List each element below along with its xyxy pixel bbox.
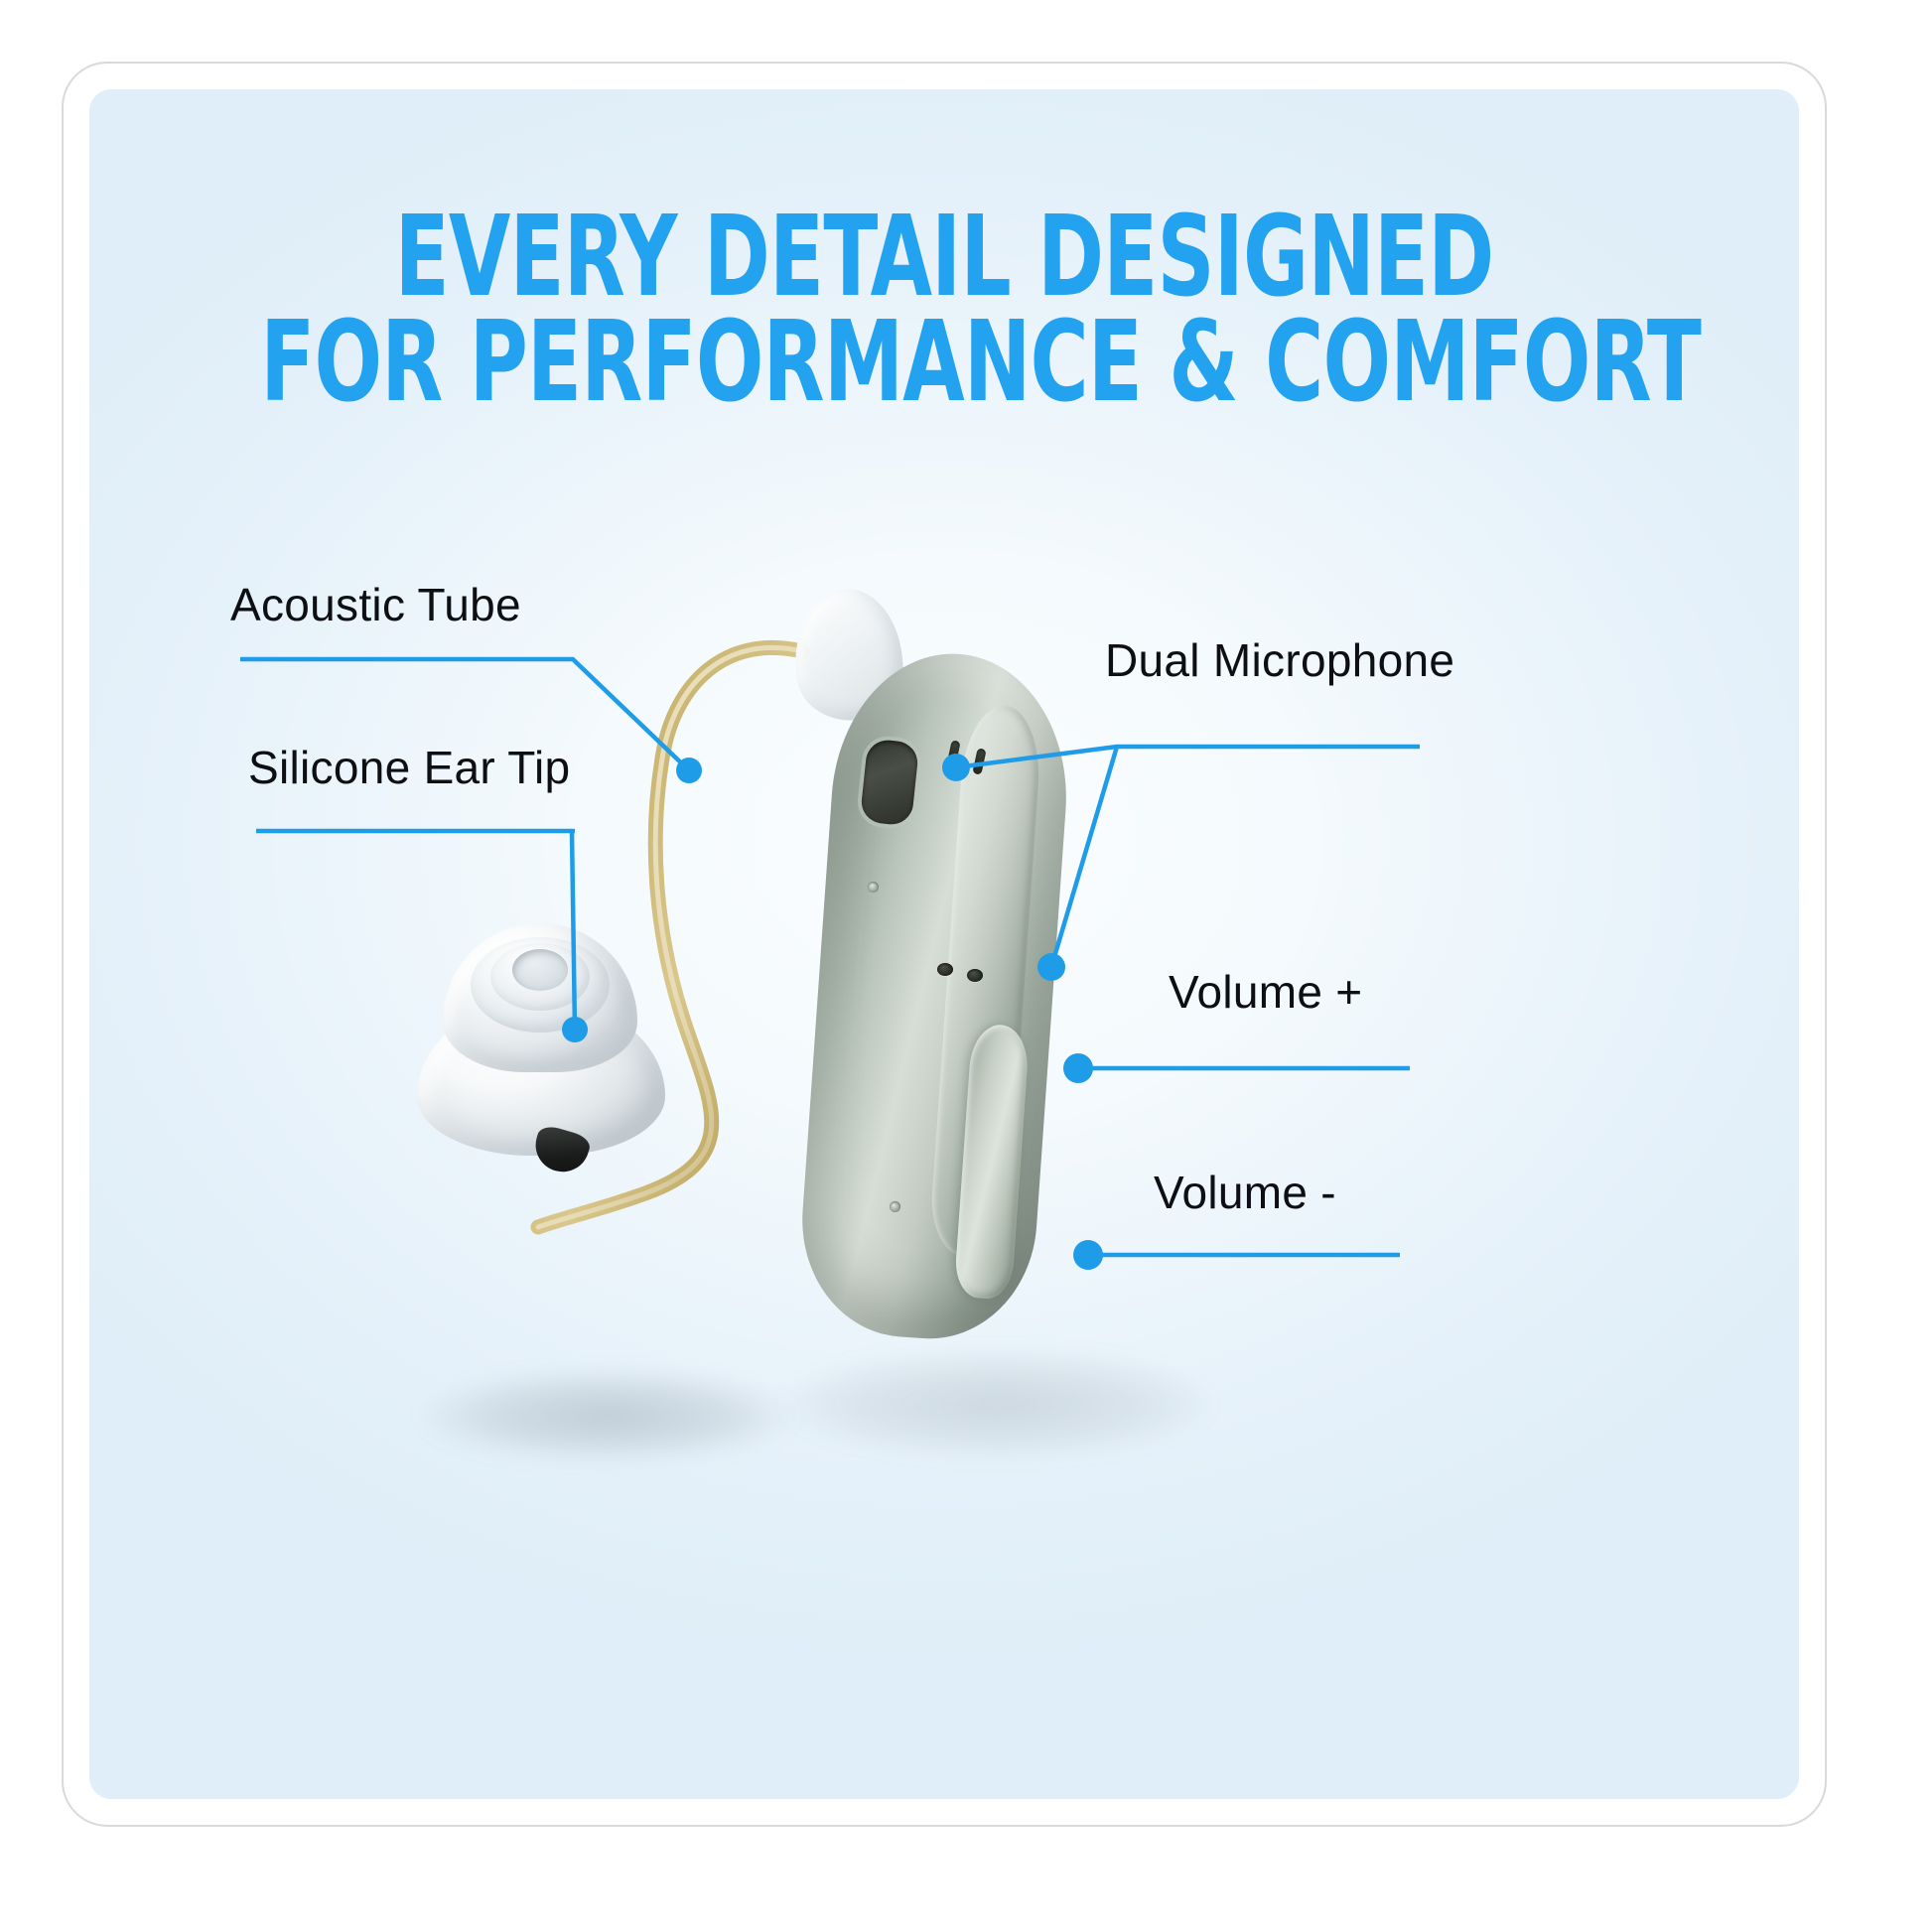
callout-label-volume-plus: Volume +: [1169, 965, 1362, 1019]
leader-silicone-ear-tip-d: [572, 831, 575, 1030]
marker-dot-microphone-upper: [942, 754, 970, 781]
marker-dot-microphone-lower: [1037, 953, 1065, 981]
leader-dual-microphone-upper: [956, 747, 1420, 767]
marker-dot-acoustic-tube: [676, 758, 702, 783]
infographic-card: EVERY DETAIL DESIGNED FOR PERFORMANCE & …: [62, 62, 1827, 1827]
infographic-panel: EVERY DETAIL DESIGNED FOR PERFORMANCE & …: [89, 89, 1799, 1799]
leader-dual-microphone-lower: [1051, 747, 1117, 967]
callout-label-dual-microphone: Dual Microphone: [1105, 633, 1454, 687]
callout-label-silicone-ear-tip: Silicone Ear Tip: [248, 741, 570, 794]
callout-label-acoustic-tube: Acoustic Tube: [230, 578, 521, 631]
callout-label-volume-minus: Volume -: [1154, 1166, 1336, 1219]
marker-dot-volume-plus: [1063, 1053, 1093, 1083]
callout-leader-lines: [89, 89, 1799, 1799]
marker-dot-silicone-ear-tip: [562, 1017, 588, 1042]
marker-dot-volume-minus: [1073, 1240, 1103, 1270]
